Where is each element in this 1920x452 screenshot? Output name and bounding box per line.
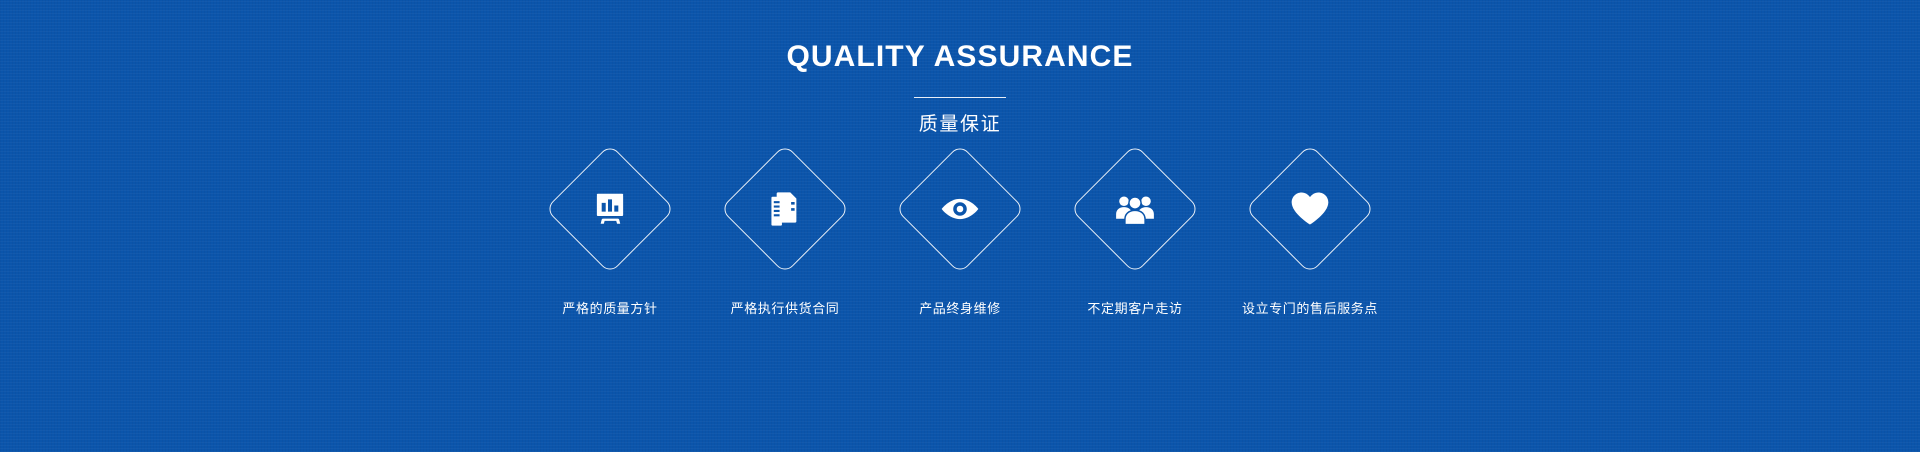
presentation-chart-icon [584,183,636,235]
people-group-icon [1109,183,1161,235]
feature-label: 产品终身维修 [919,302,1001,315]
feature-item-customer-visits[interactable]: 不定期客户走访 [1072,155,1199,315]
feature-item-supply-contract[interactable]: 严格执行供货合同 [722,155,849,315]
title-divider [914,97,1006,98]
feature-label: 设立专门的售后服务点 [1242,302,1378,315]
feature-label: 不定期客户走访 [1087,302,1182,315]
feature-label: 严格执行供货合同 [731,302,840,315]
document-contract-icon [759,183,811,235]
features-row: 严格的质量方针 严格执行供货合同 [0,155,1920,315]
diamond-frame [720,144,850,274]
heart-icon [1284,183,1336,235]
diamond-frame [895,144,1025,274]
eye-icon [934,183,986,235]
feature-item-quality-policy[interactable]: 严格的质量方针 [547,155,674,315]
feature-label: 严格的质量方针 [562,302,657,315]
diamond-frame [1245,144,1375,274]
feature-item-lifetime-maintenance[interactable]: 产品终身维修 [897,155,1024,315]
diamond-frame [1070,144,1200,274]
page-title: QUALITY ASSURANCE [786,42,1133,72]
feature-item-after-sales-service[interactable]: 设立专门的售后服务点 [1247,155,1374,315]
heading-block: QUALITY ASSURANCE 质量保证 [0,0,1920,134]
page-subtitle: 质量保证 [919,115,1001,134]
quality-assurance-banner: QUALITY ASSURANCE 质量保证 严格的质量方针 [0,0,1920,452]
diamond-frame [545,144,675,274]
